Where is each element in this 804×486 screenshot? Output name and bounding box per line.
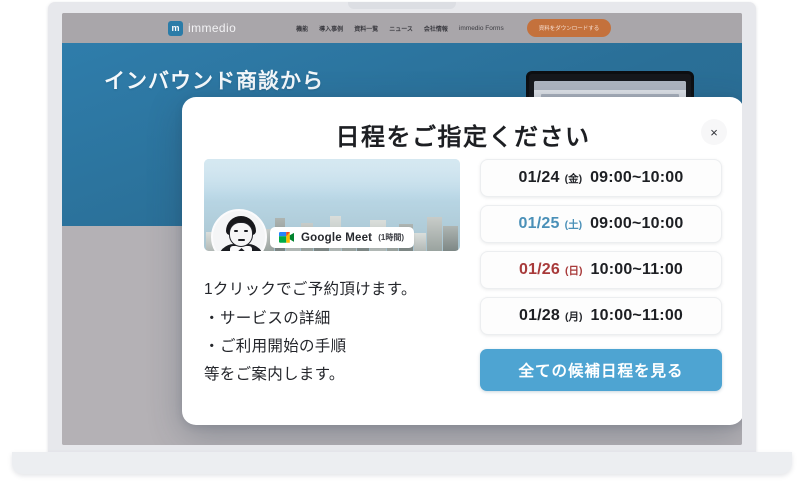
laptop-screen: m immedio 機能 導入事例 資料一覧 ニュース 会社情報 immedio… xyxy=(62,13,742,445)
hero-title: インバウンド商談から xyxy=(104,65,324,95)
slot-date: 01/26 xyxy=(519,261,560,279)
slot-option-2[interactable]: 01/25 (土) 09:00~10:00 xyxy=(480,205,722,243)
slot-option-4[interactable]: 01/28 (月) 10:00~11:00 xyxy=(480,297,722,335)
building xyxy=(427,217,442,251)
slot-day-of-week: (日) xyxy=(565,263,583,278)
avatar-eye xyxy=(244,230,248,232)
list-item: サービスの詳細 xyxy=(204,306,462,328)
slot-time: 10:00~11:00 xyxy=(591,307,684,325)
nav-item-documents[interactable]: 資料一覧 xyxy=(354,24,378,33)
slot-day-of-week: (月) xyxy=(565,309,583,324)
modal-body: Google Meet (1時間) 1クリックでご予約頂けます。 サービスの詳細… xyxy=(182,159,742,425)
slot-option-1[interactable]: 01/24 (金) 09:00~10:00 xyxy=(480,159,722,197)
laptop-mockup: m immedio 機能 導入事例 資料一覧 ニュース 会社情報 immedio… xyxy=(48,2,756,454)
screenshot-stage: m immedio 機能 導入事例 資料一覧 ニュース 会社情報 immedio… xyxy=(0,0,804,486)
slot-time: 09:00~10:00 xyxy=(590,169,683,187)
copy-lead: 1クリックでご予約頂けます。 xyxy=(204,277,462,299)
brand-name: immedio xyxy=(188,21,236,35)
google-meet-icon xyxy=(278,231,295,244)
nav-item-news[interactable]: ニュース xyxy=(389,24,413,33)
slot-time: 10:00~11:00 xyxy=(591,261,684,279)
nav-item-immedio-forms[interactable]: immedio Forms xyxy=(459,25,504,32)
brand[interactable]: m immedio xyxy=(168,21,236,36)
modal-right-column: 01/24 (金) 09:00~10:00 01/25 (土) 09:00~10… xyxy=(480,159,722,425)
slot-date: 01/25 xyxy=(519,215,560,233)
modal-copy: 1クリックでご予約頂けます。 サービスの詳細 ご利用開始の手順 等をご案内します… xyxy=(204,277,462,384)
scheduling-modal: 日程をご指定ください × xyxy=(182,97,742,425)
nav-item-case-studies[interactable]: 導入事例 xyxy=(319,24,343,33)
site-header: m immedio 機能 導入事例 資料一覧 ニュース 会社情報 immedio… xyxy=(62,13,742,43)
copy-bullet-list: サービスの詳細 ご利用開始の手順 xyxy=(204,306,462,356)
hero-device-toolbar xyxy=(534,81,686,90)
meet-label: Google Meet xyxy=(301,232,372,244)
meeting-thumbnail: Google Meet (1時間) xyxy=(204,159,460,251)
list-item: ご利用開始の手順 xyxy=(204,334,462,356)
building xyxy=(443,226,458,251)
avatar-eye xyxy=(234,230,238,232)
modal-title: 日程をご指定ください xyxy=(182,117,742,152)
site-nav: 機能 導入事例 資料一覧 ニュース 会社情報 immedio Forms 資料を… xyxy=(296,19,611,37)
close-icon[interactable]: × xyxy=(701,119,727,145)
slot-date: 01/28 xyxy=(519,307,560,325)
laptop-notch xyxy=(348,2,456,9)
slot-day-of-week: (土) xyxy=(565,217,583,232)
slot-date: 01/24 xyxy=(519,169,560,187)
nav-item-features[interactable]: 機能 xyxy=(296,24,308,33)
slot-time: 09:00~10:00 xyxy=(590,215,683,233)
copy-tail: 等をご案内します。 xyxy=(204,362,462,384)
google-meet-badge: Google Meet (1時間) xyxy=(270,227,414,248)
avatar-face xyxy=(229,222,253,247)
immedio-logo-icon: m xyxy=(168,21,183,36)
avatar-mouth xyxy=(238,239,245,241)
header-download-cta[interactable]: 資料をダウンロードする xyxy=(527,19,612,37)
slot-day-of-week: (金) xyxy=(565,171,583,186)
slot-option-3[interactable]: 01/26 (日) 10:00~11:00 xyxy=(480,251,722,289)
modal-left-column: Google Meet (1時間) 1クリックでご予約頂けます。 サービスの詳細… xyxy=(204,159,462,425)
building xyxy=(414,233,426,251)
laptop-base xyxy=(12,452,792,474)
view-all-slots-button[interactable]: 全ての候補日程を見る xyxy=(480,349,722,391)
nav-item-company[interactable]: 会社情報 xyxy=(424,24,448,33)
meet-duration: (1時間) xyxy=(378,232,404,243)
